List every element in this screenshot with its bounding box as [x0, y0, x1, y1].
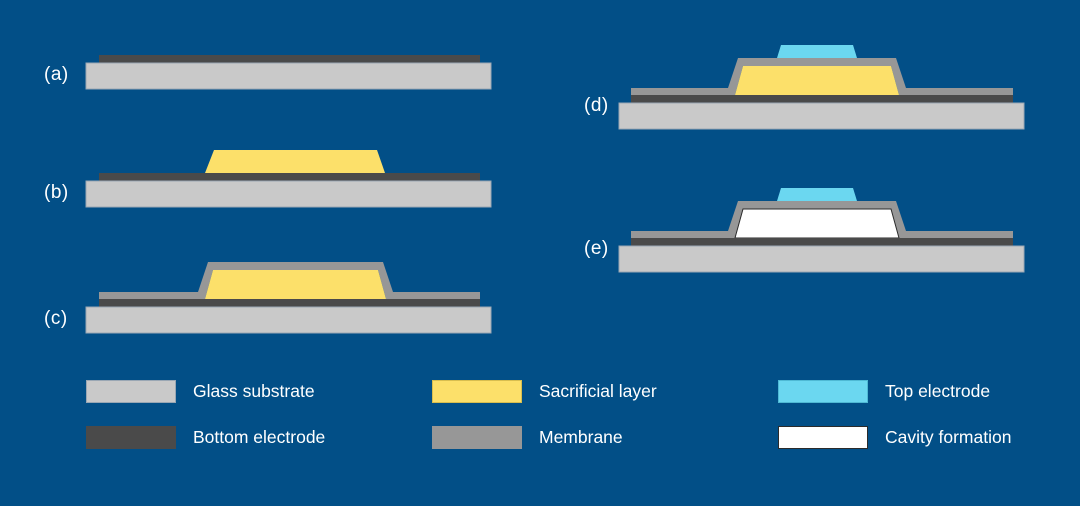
sacrificial-layer-swatch	[432, 380, 522, 403]
legend-label-bottom-electrode: Bottom electrode	[193, 425, 325, 450]
panel-d-diagram	[540, 10, 1080, 135]
glass-substrate-layer	[619, 246, 1024, 272]
sacrificial-layer-shape	[735, 66, 899, 95]
legend-label-sacrificial-layer: Sacrificial layer	[539, 379, 657, 404]
legend-item-bottom-electrode: Bottom electrode	[86, 426, 416, 472]
bottom-electrode-swatch	[86, 426, 176, 449]
legend-column-3: Top electrode Cavity formation	[778, 380, 1080, 472]
sacrificial-layer-shape	[205, 150, 385, 173]
panel-a: (a)	[0, 0, 540, 120]
legend-label-glass-substrate: Glass substrate	[193, 379, 315, 404]
panel-a-label: (a)	[44, 64, 69, 86]
membrane-swatch	[432, 426, 522, 449]
glass-substrate-layer	[86, 63, 491, 89]
figure-canvas: (a) (b) (c) (d)	[0, 0, 1080, 506]
legend-label-cavity-formation: Cavity formation	[885, 425, 1011, 450]
panel-b: (b)	[0, 130, 540, 230]
cavity-shape	[735, 209, 899, 238]
panel-a-diagram	[0, 0, 540, 120]
panel-e-diagram	[540, 158, 1080, 268]
panel-c-diagram	[0, 248, 540, 353]
panel-e: (e)	[540, 158, 1080, 268]
glass-substrate-layer	[619, 103, 1024, 129]
panel-c: (c)	[0, 248, 540, 353]
panel-e-label: (e)	[584, 238, 609, 260]
legend: Glass substrate Bottom electrode Sacrifi…	[0, 380, 1080, 480]
legend-label-membrane: Membrane	[539, 425, 623, 450]
panel-b-diagram	[0, 130, 540, 230]
legend-item-cavity-formation: Cavity formation	[778, 426, 1080, 472]
legend-label-top-electrode: Top electrode	[885, 379, 990, 404]
sacrificial-layer-shape	[205, 270, 386, 299]
legend-item-top-electrode: Top electrode	[778, 380, 1080, 426]
panel-b-label: (b)	[44, 182, 69, 204]
legend-item-glass-substrate: Glass substrate	[86, 380, 416, 426]
panel-d: (d)	[540, 10, 1080, 135]
legend-column-2: Sacrificial layer Membrane	[432, 380, 762, 472]
cavity-formation-swatch	[778, 426, 868, 449]
legend-item-membrane: Membrane	[432, 426, 762, 472]
legend-column-1: Glass substrate Bottom electrode	[86, 380, 416, 472]
legend-item-sacrificial-layer: Sacrificial layer	[432, 380, 762, 426]
glass-substrate-layer	[86, 307, 491, 333]
top-electrode-swatch	[778, 380, 868, 403]
glass-substrate-swatch	[86, 380, 176, 403]
panel-d-label: (d)	[584, 95, 609, 117]
top-electrode-shape	[777, 188, 857, 201]
top-electrode-shape	[777, 45, 857, 58]
panel-c-label: (c)	[44, 308, 68, 330]
glass-substrate-layer	[86, 181, 491, 207]
